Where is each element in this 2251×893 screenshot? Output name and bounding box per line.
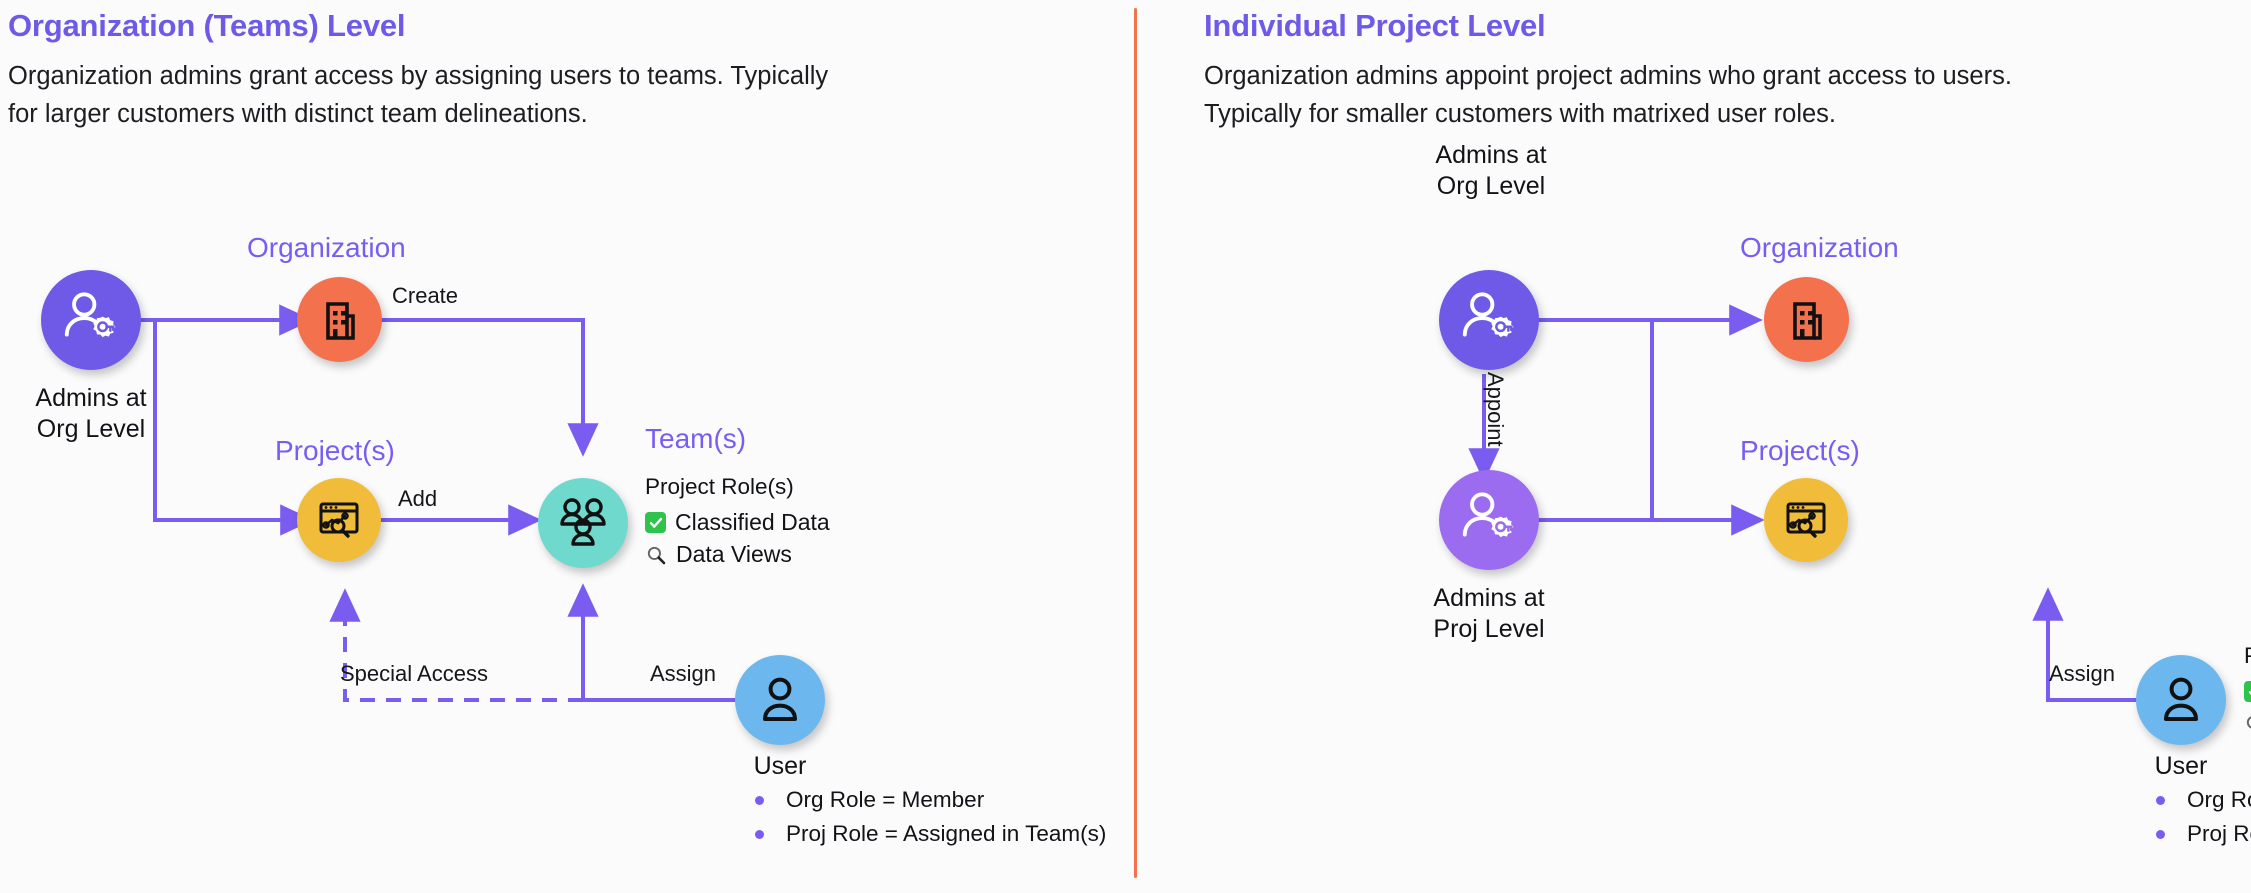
- diagram-canvas: Organization (Teams) Level Organization …: [0, 0, 2251, 893]
- team-people-icon: [554, 494, 612, 552]
- right-connector-wires: [1136, 0, 2251, 893]
- edge-label-appoint: Appoint: [1482, 372, 1508, 447]
- admin-key-gear-icon: [1458, 289, 1520, 351]
- right-desc-line-1: Organization admins appoint project admi…: [1204, 62, 2012, 90]
- category-projects: Project(s): [1740, 435, 1860, 467]
- label-user: User: [720, 751, 840, 782]
- node-admins-at-proj-level[interactable]: [1439, 470, 1539, 570]
- right-panel-title: Individual Project Level: [1204, 8, 1545, 44]
- check-box-icon: [645, 512, 666, 533]
- user-bullets: Org Role = Member Proj Role = Assigned i…: [2156, 787, 2251, 855]
- edge-label-assign: Assign: [650, 661, 716, 687]
- project-roles-title: Project Role(s): [2244, 643, 2251, 669]
- magnifier-icon: [2244, 713, 2251, 735]
- label-user: User: [2121, 751, 2241, 782]
- role-row-classified-data: Classified Data: [2244, 678, 2251, 705]
- left-panel-title: Organization (Teams) Level: [8, 8, 405, 44]
- node-user[interactable]: [2136, 655, 2226, 745]
- edge-label-special-access: Special Access: [340, 661, 488, 687]
- label-admins-at-org-level: Admins at Org Level: [1400, 140, 1582, 202]
- bullet-text-proj-role: Proj Role = Assigned in Project(s): [2187, 821, 2251, 847]
- organization-teams-panel: Organization (Teams) Level Organization …: [0, 0, 1135, 893]
- teams-project-roles: Project Role(s) Classified Data Data Vie…: [645, 474, 830, 573]
- bullet-dot-icon: [2156, 830, 2165, 839]
- node-teams[interactable]: [538, 478, 628, 568]
- node-organization[interactable]: [297, 277, 382, 362]
- individual-project-panel: Individual Project Level Organization ad…: [1136, 0, 2251, 893]
- project-dashboard-icon: [314, 495, 364, 545]
- user-project-roles: Project Role(s) Classified Data Data Vie…: [2244, 643, 2251, 742]
- role-label-data-views: Data Views: [676, 541, 792, 568]
- edge-label-assign: Assign: [2049, 661, 2115, 687]
- admin-key-gear-icon: [60, 289, 122, 351]
- bullet-text-org-role: Org Role = Member: [2187, 787, 2251, 813]
- node-projects[interactable]: [297, 478, 381, 562]
- node-projects[interactable]: [1764, 478, 1848, 562]
- category-organization: Organization: [1740, 232, 1899, 264]
- bullet-dot-icon: [755, 830, 764, 839]
- left-desc-line-2: for larger customers with distinct team …: [8, 100, 588, 128]
- category-teams: Team(s): [645, 423, 746, 455]
- admin-key-gear-icon: [1458, 489, 1520, 551]
- user-person-icon: [754, 674, 806, 726]
- category-organization: Organization: [247, 232, 406, 264]
- category-projects: Project(s): [275, 435, 395, 467]
- project-roles-title: Project Role(s): [645, 474, 830, 500]
- bullet-dot-icon: [2156, 796, 2165, 805]
- building-icon: [316, 296, 364, 344]
- left-panel-description: Organization admins grant access by assi…: [8, 57, 1098, 133]
- right-desc-line-2: Typically for smaller customers with mat…: [1204, 100, 1836, 128]
- bullet-dot-icon: [755, 796, 764, 805]
- right-panel-description: Organization admins appoint project admi…: [1204, 57, 2244, 133]
- bullet-proj-role: Proj Role = Assigned in Team(s): [755, 821, 1106, 847]
- check-box-icon: [2244, 681, 2251, 702]
- left-connector-wires: [0, 0, 1135, 893]
- edge-label-create: Create: [392, 283, 458, 309]
- role-row-data-views: Data Views: [645, 541, 830, 568]
- project-dashboard-icon: [1781, 495, 1831, 545]
- node-user[interactable]: [735, 655, 825, 745]
- bullet-org-role: Org Role = Member: [755, 787, 1106, 813]
- label-admins-at-org-level: Admins at Org Level: [0, 383, 182, 445]
- node-admins-at-org-level[interactable]: [1439, 270, 1539, 370]
- bullet-org-role: Org Role = Member: [2156, 787, 2251, 813]
- building-icon: [1783, 296, 1831, 344]
- role-label-classified-data: Classified Data: [675, 509, 830, 536]
- user-bullets: Org Role = Member Proj Role = Assigned i…: [755, 787, 1106, 855]
- magnifier-icon: [645, 544, 667, 566]
- role-row-data-views: Data Views: [2244, 710, 2251, 737]
- user-person-icon: [2155, 674, 2207, 726]
- bullet-text-proj-role: Proj Role = Assigned in Team(s): [786, 821, 1106, 847]
- label-admins-at-proj-level: Admins at Proj Level: [1398, 583, 1580, 645]
- left-desc-line-1: Organization admins grant access by assi…: [8, 62, 828, 90]
- node-organization[interactable]: [1764, 277, 1849, 362]
- edge-label-add: Add: [398, 486, 437, 512]
- node-admins-at-org-level[interactable]: [41, 270, 141, 370]
- bullet-text-org-role: Org Role = Member: [786, 787, 984, 813]
- bullet-proj-role: Proj Role = Assigned in Project(s): [2156, 821, 2251, 847]
- role-row-classified-data: Classified Data: [645, 509, 830, 536]
